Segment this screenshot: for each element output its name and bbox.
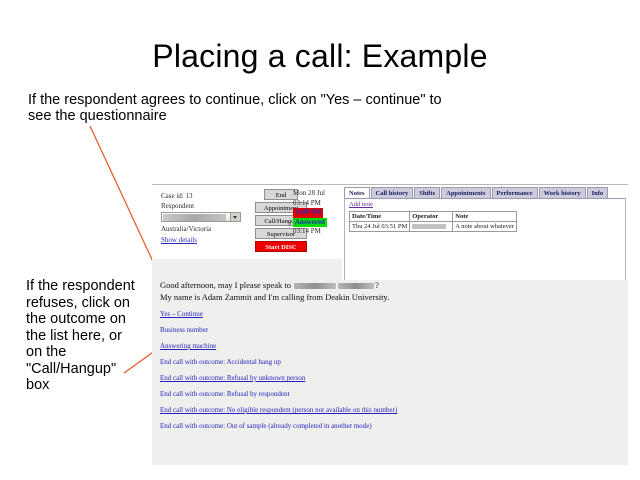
outcome-link-business-number[interactable]: Business number <box>160 326 500 334</box>
add-note-link[interactable]: Add note <box>349 201 373 208</box>
redacted-respondent-name <box>163 214 226 221</box>
call-control-panel: Case id: 13 Respondent Australia/Victori… <box>152 184 342 259</box>
table-header-row: Date/Time Operator Note <box>350 212 517 222</box>
respondent-label: Respondent <box>161 201 256 211</box>
column-header-operator: Operator <box>410 212 453 222</box>
call-status-column: Mon 28 Jul 03:14 PM VoIP Off Answered 03… <box>293 189 341 237</box>
greeting-line2: My name is Adam Zammit and I'm calling f… <box>160 292 389 302</box>
respondent-select[interactable] <box>161 212 241 222</box>
redacted-operator-name <box>412 224 446 229</box>
column-header-datetime: Date/Time <box>350 212 410 222</box>
table-row: Thu 24 Jul 03:51 PM A note about whateve… <box>350 222 517 232</box>
call-script-area: Good afternoon, may I please speak to ? … <box>152 280 628 465</box>
tab-info[interactable]: Info <box>587 187 609 198</box>
outcome-link-yes-continue[interactable]: Yes – Continue <box>160 310 500 318</box>
status-date: Mon 28 Jul <box>293 189 341 199</box>
cell-datetime: Thu 24 Jul 03:51 PM <box>350 222 410 232</box>
timezone-label: Australia/Victoria <box>161 224 256 234</box>
outcome-link-list: Yes – Continue Business number Answering… <box>160 310 500 438</box>
voip-status-badge: VoIP Off <box>293 208 323 218</box>
outcome-link-accidental-hang-up[interactable]: End call with outcome: Accidental hang u… <box>160 358 500 366</box>
case-id-label: Case id: 13 <box>161 191 256 201</box>
outcome-link-no-eligible-respondent[interactable]: End call with outcome: No eligible respo… <box>160 406 500 414</box>
outcome-link-refusal-unknown-person[interactable]: End call with outcome: Refusal by unknow… <box>160 374 500 382</box>
tab-performance[interactable]: Performance <box>492 187 538 198</box>
respondent-info-block: Case id: 13 Respondent Australia/Victori… <box>161 191 256 245</box>
greeting-line1-pre: Good afternoon, may I please speak to <box>160 280 293 290</box>
redacted-respondent-firstname <box>294 283 336 289</box>
tab-notes[interactable]: Notes <box>344 187 370 198</box>
outcome-link-refusal-by-respondent[interactable]: End call with outcome: Refusal by respon… <box>160 390 500 398</box>
outcome-link-answering-machine[interactable]: Answering machine <box>160 342 500 350</box>
callout-text-top: If the respondent agrees to continue, cl… <box>28 92 458 124</box>
operator-info-tab-panel: Notes Call history Shifts Appointments P… <box>342 184 628 293</box>
outcome-link-out-of-sample[interactable]: End call with outcome: Out of sample (al… <box>160 422 500 430</box>
tab-appointments[interactable]: Appointments <box>441 187 490 198</box>
cell-operator-redacted <box>410 222 453 232</box>
page-title: Placing a call: Example <box>0 38 640 75</box>
status-time-bottom: 03:14 PM <box>293 227 341 237</box>
tab-strip: Notes Call history Shifts Appointments P… <box>344 187 609 198</box>
status-time-top: 03:14 PM <box>293 199 341 209</box>
notes-table: Date/Time Operator Note Thu 24 Jul 03:51… <box>349 211 517 232</box>
start-disc-button[interactable]: Start DISC <box>255 241 307 252</box>
cell-note: A note about whatever <box>453 222 517 232</box>
column-header-note: Note <box>453 212 517 222</box>
show-details-link[interactable]: Show details <box>161 235 256 245</box>
tab-work-history[interactable]: Work history <box>539 187 586 198</box>
redacted-respondent-surname <box>338 283 374 289</box>
answered-status-badge: Answered <box>293 218 327 228</box>
greeting-script-text: Good afternoon, may I please speak to ? … <box>160 280 580 303</box>
chevron-down-icon[interactable] <box>230 213 240 221</box>
callout-text-left: If the respondent refuses, click on the … <box>26 278 136 394</box>
tab-call-history[interactable]: Call history <box>371 187 414 198</box>
greeting-line1-post: ? <box>375 280 379 290</box>
tab-body-notes: Add note Date/Time Operator Note Thu 24 … <box>344 198 626 291</box>
tab-shifts[interactable]: Shifts <box>414 187 440 198</box>
embedded-app-screenshot: Case id: 13 Respondent Australia/Victori… <box>152 184 628 465</box>
